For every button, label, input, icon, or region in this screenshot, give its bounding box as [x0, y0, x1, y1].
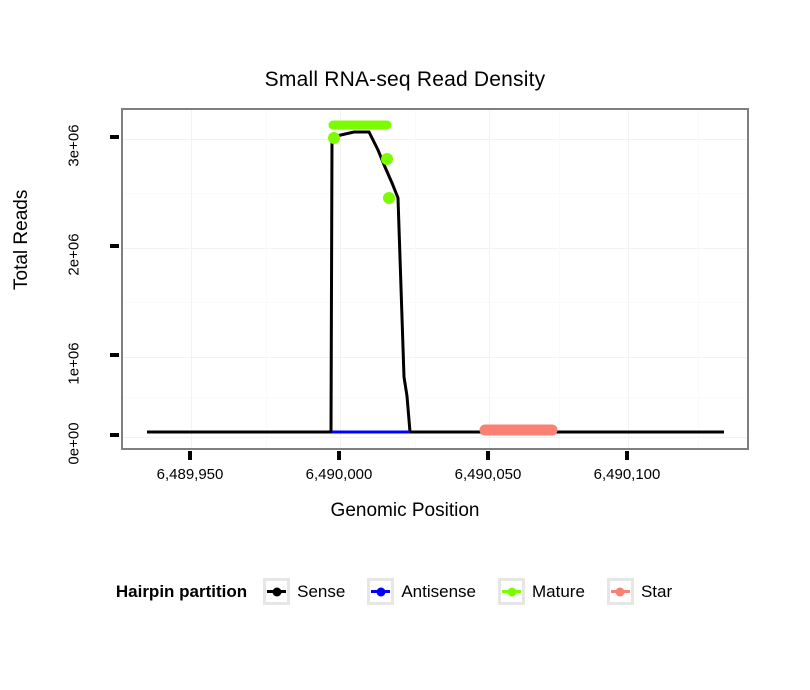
legend-label-mature: Mature: [532, 582, 585, 602]
y-tick-label-3: 3e+06: [66, 120, 83, 172]
legend-entry-star[interactable]: Star: [607, 578, 688, 605]
y-axis-title: Total Reads: [11, 190, 33, 290]
legend-label-antisense: Antisense: [401, 582, 476, 602]
series-mature-point: [328, 132, 340, 144]
y-tick-label-0: 0e+00: [66, 418, 83, 470]
legend-label-sense: Sense: [297, 582, 345, 602]
y-tick-mark-1: [110, 353, 119, 357]
legend-entry-sense[interactable]: Sense: [263, 578, 361, 605]
legend-key-sense-icon: [263, 578, 290, 605]
x-axis-title: Genomic Position: [0, 500, 810, 522]
x-tick-label-0: 6,489,950: [157, 466, 224, 483]
chart-root: Small RNA-seq Read Density: [0, 0, 810, 690]
x-tick-label-1: 6,490,000: [306, 466, 373, 483]
y-tick-mark-0: [110, 433, 119, 437]
legend-key-star-icon: [607, 578, 634, 605]
legend-key-antisense-icon: [367, 578, 394, 605]
legend-key-mature-icon: [498, 578, 525, 605]
x-tick-mark-3: [625, 451, 629, 460]
x-tick-mark-2: [486, 451, 490, 460]
legend-entry-antisense[interactable]: Antisense: [367, 578, 492, 605]
data-layer: [123, 110, 749, 450]
y-tick-label-1: 1e+06: [66, 338, 83, 390]
plot-panel: [121, 108, 749, 450]
legend-title: Hairpin partition: [116, 582, 247, 602]
series-mature-point: [383, 192, 395, 204]
y-tick-mark-3: [110, 135, 119, 139]
x-tick-label-2: 6,490,050: [455, 466, 522, 483]
y-tick-mark-2: [110, 244, 119, 248]
x-tick-mark-0: [188, 451, 192, 460]
legend-entry-mature[interactable]: Mature: [498, 578, 601, 605]
x-tick-mark-1: [337, 451, 341, 460]
series-sense-line: [147, 132, 724, 432]
legend-label-star: Star: [641, 582, 672, 602]
x-tick-label-3: 6,490,100: [594, 466, 661, 483]
y-tick-label-2: 2e+06: [66, 229, 83, 281]
series-mature-point: [381, 153, 393, 165]
chart-title: Small RNA-seq Read Density: [0, 68, 810, 92]
legend: Hairpin partition Sense Antisense Mature: [0, 578, 810, 605]
